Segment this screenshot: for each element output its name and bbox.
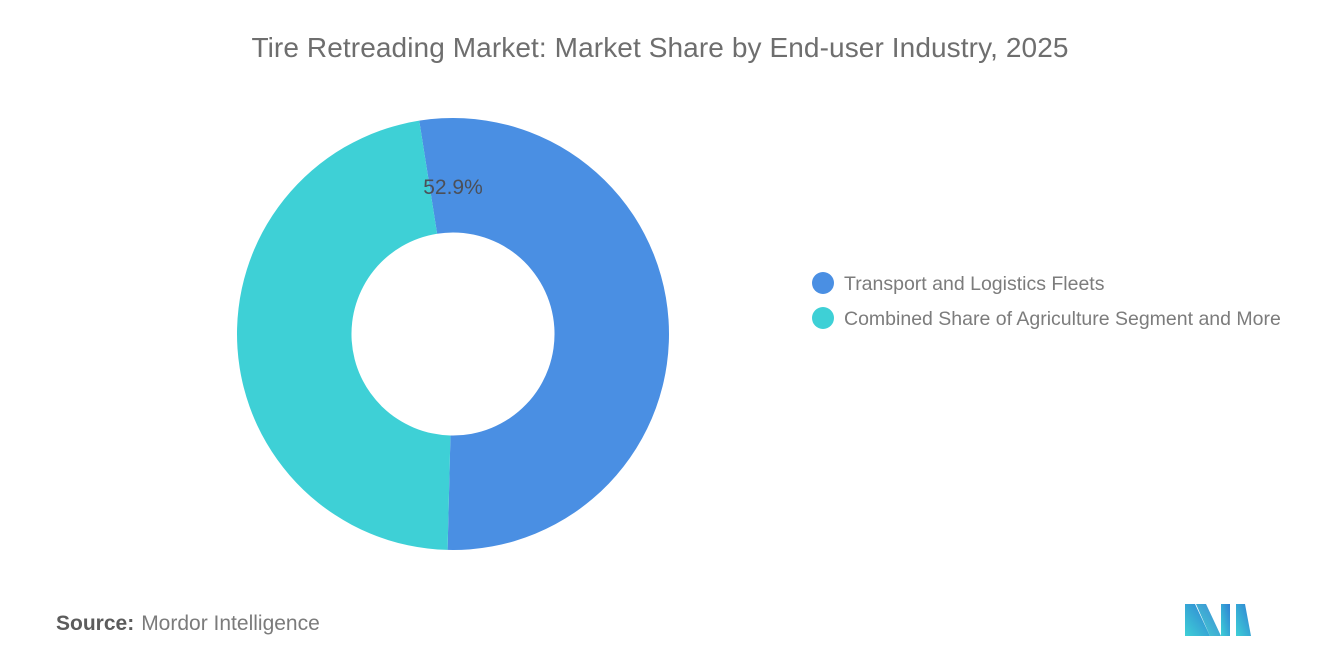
donut-slice-combined-share-agriculture[interactable] xyxy=(237,121,450,550)
legend-swatch-icon xyxy=(812,272,834,294)
donut-slices xyxy=(237,118,669,550)
legend-item-label: Combined Share of Agriculture Segment an… xyxy=(844,305,1281,333)
page-title: Tire Retreading Market: Market Share by … xyxy=(0,30,1320,66)
legend: Transport and Logistics Fleets Combined … xyxy=(812,270,1304,340)
legend-swatch-icon xyxy=(812,307,834,329)
legend-item-transport-and-logistics-fleets[interactable]: Transport and Logistics Fleets xyxy=(812,270,1304,298)
source-attribution: Source:Mordor Intelligence xyxy=(56,612,320,636)
mordor-intelligence-logo-icon xyxy=(1183,598,1253,640)
source-value: Mordor Intelligence xyxy=(141,612,320,635)
donut-svg xyxy=(237,118,669,550)
chart-root: Tire Retreading Market: Market Share by … xyxy=(0,0,1320,665)
donut-slice-transport-and-logistics-fleets[interactable] xyxy=(419,118,669,550)
legend-item-combined-share-agriculture[interactable]: Combined Share of Agriculture Segment an… xyxy=(812,305,1304,333)
donut-chart: 52.9% xyxy=(237,118,669,550)
source-label: Source: xyxy=(56,612,134,635)
legend-item-label: Transport and Logistics Fleets xyxy=(844,270,1104,298)
